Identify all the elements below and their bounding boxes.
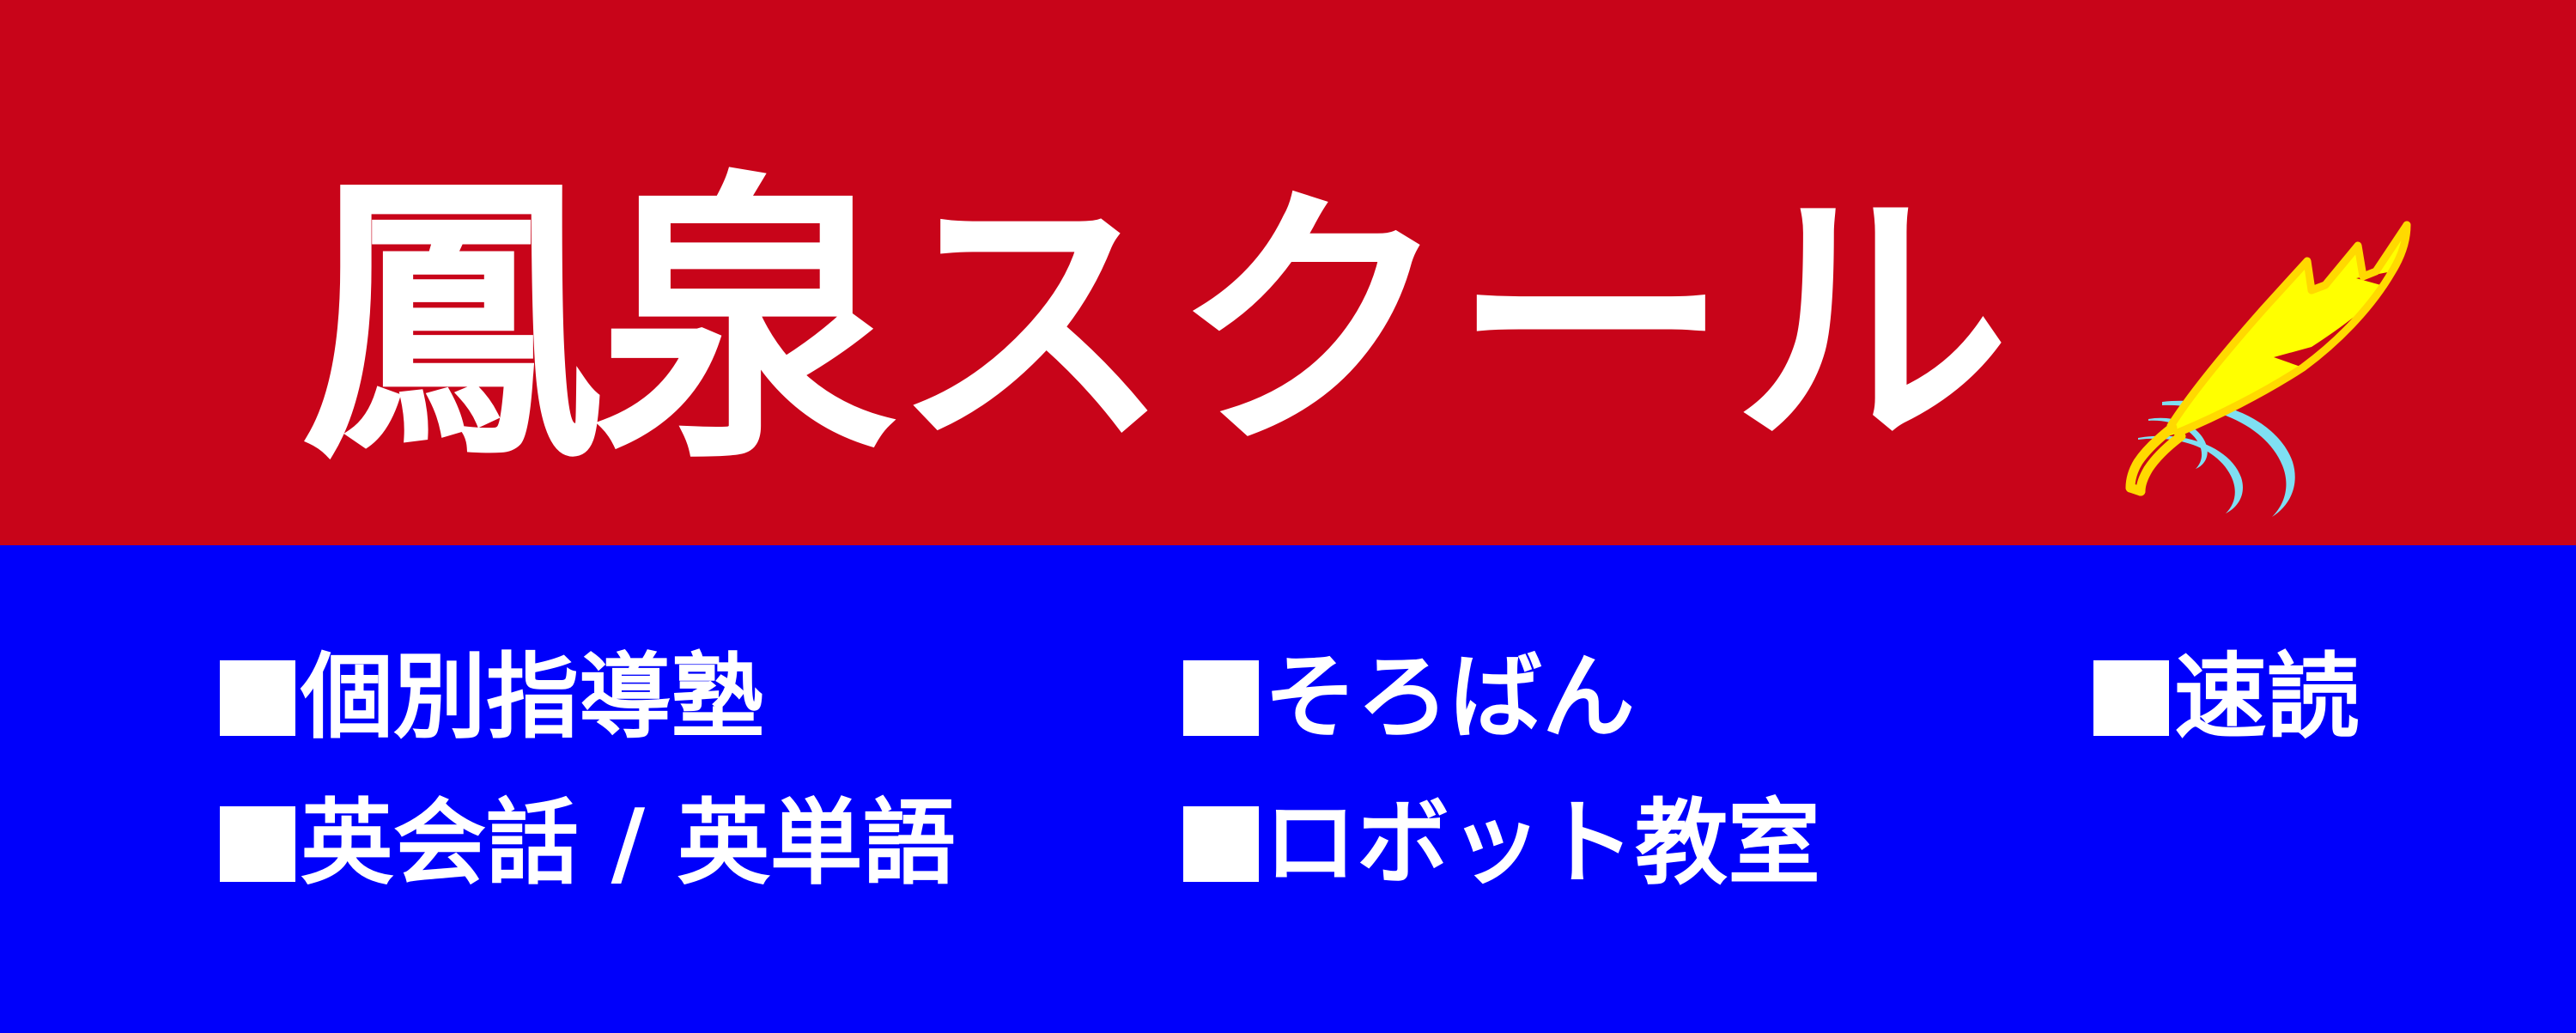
course-label: 個別指導塾 <box>301 647 764 750</box>
bullet-square-icon <box>220 806 295 882</box>
course-kobetsu-shidou-juku: 個別指導塾 <box>220 629 764 767</box>
course-label: そろばん <box>1264 647 1635 750</box>
course-label: 英会話 / 英単語 <box>301 793 956 896</box>
course-label: ロボット教室 <box>1264 793 1820 896</box>
brand-title-kana: スクール <box>893 150 2013 494</box>
course-list: 個別指導塾 そろばん 速読 英会話 / 英単語 ロボット教室 <box>0 545 2576 1033</box>
course-row-1: 個別指導塾 そろばん 速読 <box>0 629 2576 767</box>
bullet-square-icon <box>2093 660 2169 736</box>
feather-vane <box>2164 225 2407 438</box>
course-label: 速読 <box>2174 647 2360 750</box>
course-robot-kyoushitsu: ロボット教室 <box>1183 775 1820 913</box>
course-soroban: そろばん <box>1183 629 1635 767</box>
bullet-square-icon <box>1183 660 1259 736</box>
bullet-square-icon <box>220 660 295 736</box>
course-eikaiwa-eitango: 英会話 / 英単語 <box>220 775 956 913</box>
brand-title-kanji: 鳳泉 <box>301 150 888 494</box>
feather-shaft <box>2130 428 2181 491</box>
brand-title: 鳳泉スクール <box>301 150 2112 494</box>
quill-feather-logo <box>2095 189 2464 532</box>
school-signboard: 鳳泉スクール <box>0 0 2576 1033</box>
bullet-square-icon <box>1183 806 1259 882</box>
course-sokudoku: 速読 <box>2093 629 2360 767</box>
course-row-2: 英会話 / 英単語 ロボット教室 <box>0 775 2576 913</box>
